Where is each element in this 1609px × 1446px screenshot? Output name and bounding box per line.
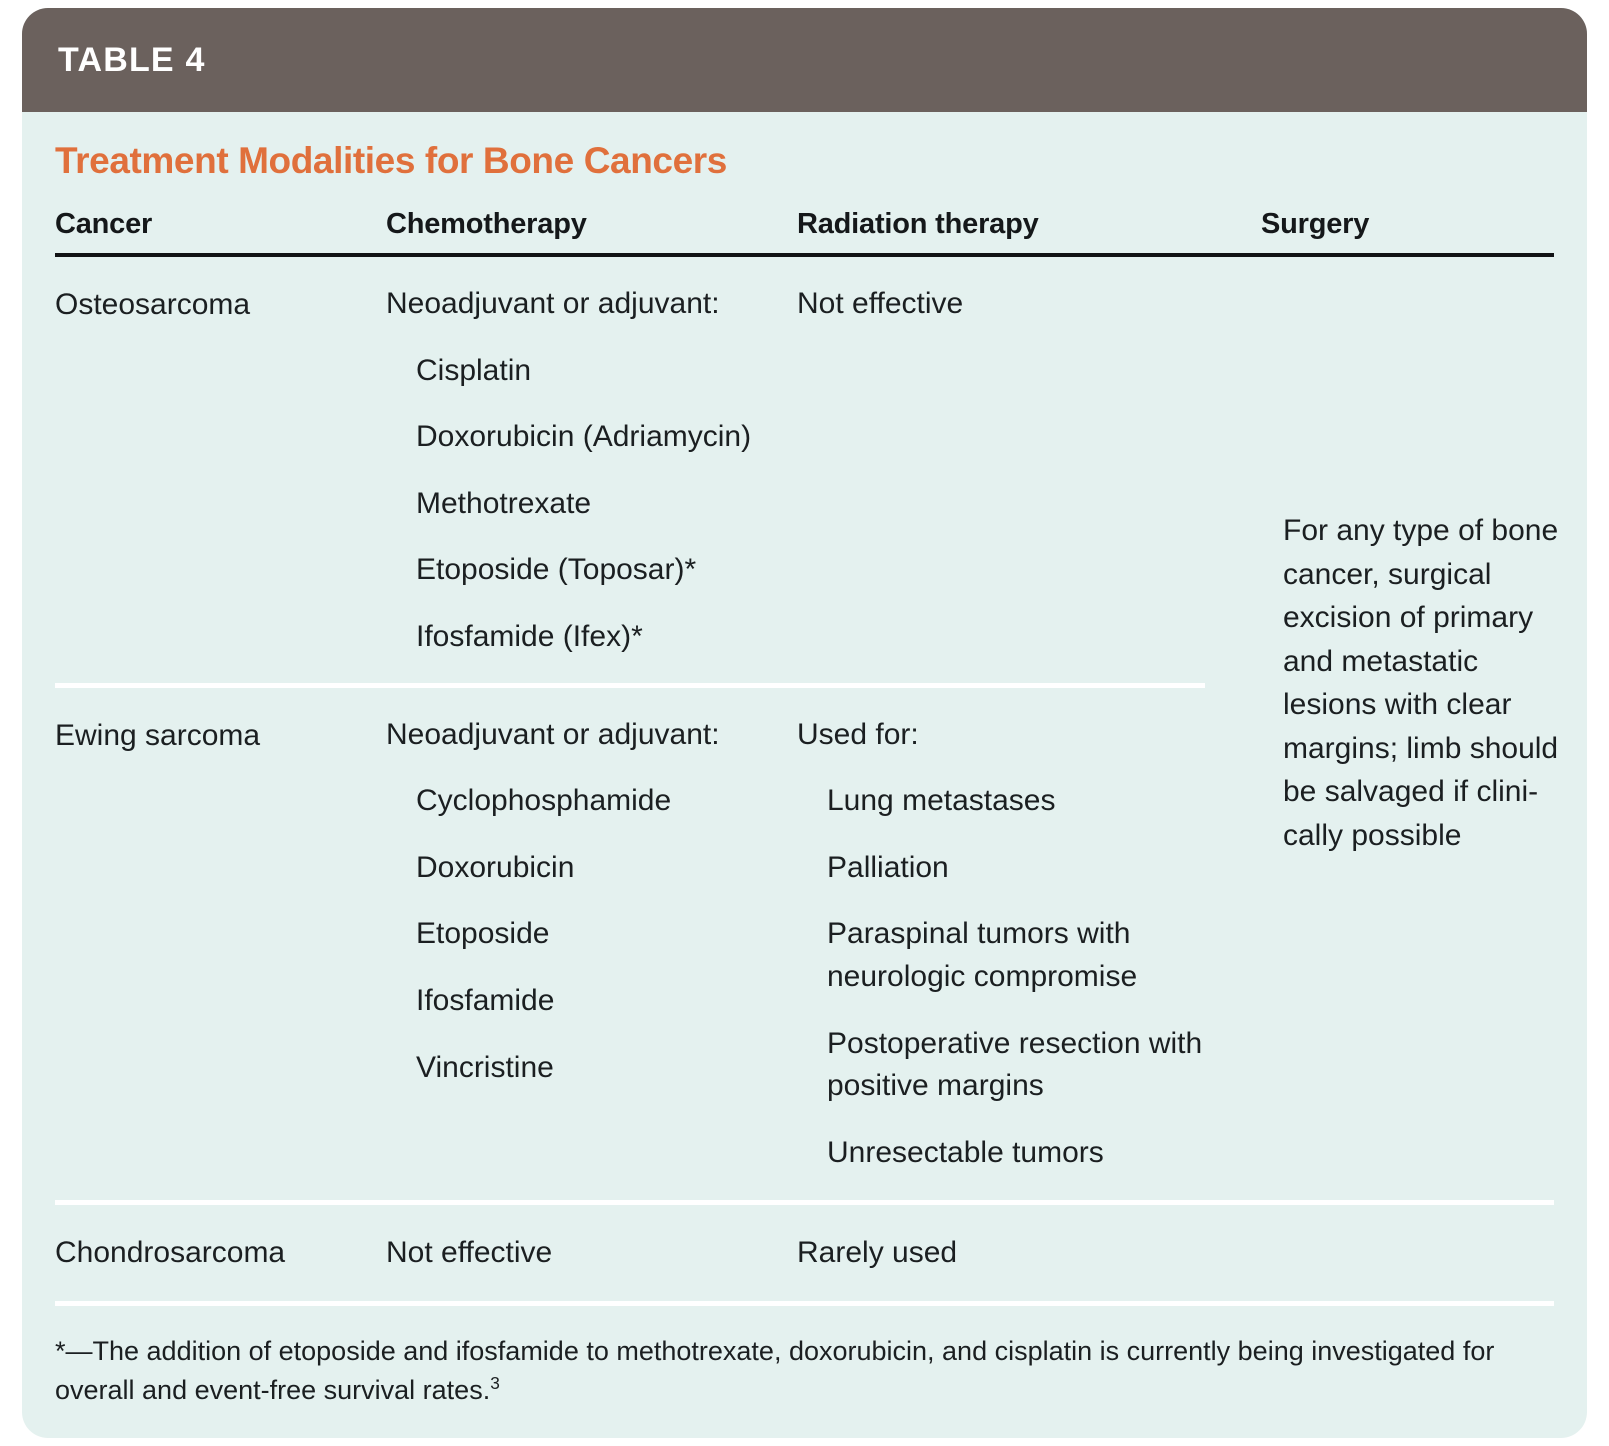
table-header-bar: TABLE 4 [22,8,1587,112]
asterisk-footnote: *—The addition of etoposide and ifosfami… [55,1332,1554,1409]
chemo-item-list: Cyclophosphamide Doxorubicin Etoposide I… [386,756,797,1089]
list-item: Cyclophosphamide [416,756,797,823]
list-item: Postoperative resection with positive ma… [827,999,1261,1108]
list-item: Ifosfamide (Ifex)* [416,592,797,659]
cell-chemotherapy: Neoadjuvant or adjuvant: Cisplatin Doxor… [386,257,797,659]
cell-radiation-therapy: Not effective [797,257,1261,659]
list-item: Methotrexate [416,459,797,526]
list-item: Cisplatin [416,326,797,393]
table-title: Treatment Modalities for Bone Cancers [55,112,1554,186]
cell-radiation-therapy: Rarely used [797,1205,1261,1275]
column-header-radiation-therapy: Radiation therapy [797,186,1261,253]
chemo-item-list: Cisplatin Doxorubicin (Adriamycin) Metho… [386,326,797,659]
cell-surgery-empty [1261,1205,1586,1275]
table-row: Osteosarcoma Neoadjuvant or adjuvant: Ci… [55,257,1554,659]
list-item: Paraspinal tumors with neurologic compro… [827,889,1261,998]
table-row: Chondrosarcoma Not effective Rarely used [55,1205,1554,1275]
list-item: Lung metastases [827,756,1261,823]
list-item: Doxorubicin [416,823,797,890]
cell-chemotherapy: Not effective [386,1205,797,1275]
list-item: Ifosfamide [416,956,797,1023]
cell-surgery: For any type of bone cancer, surgical ex… [1261,257,1586,659]
list-item: Unresectable tumors [827,1108,1261,1175]
radiation-item-list: Lung metastases Palliation Paraspinal tu… [797,756,1261,1174]
radiation-intro: Not effective [797,283,1261,326]
table-body: Treatment Modalities for Bone Cancers Ca… [22,112,1587,1438]
chemo-intro: Neoadjuvant or adjuvant: [386,714,797,757]
column-header-chemotherapy: Chemotherapy [386,186,797,253]
list-item: Palliation [827,823,1261,890]
asterisk-footnote-text: *—The addition of etoposide and ifosfami… [55,1336,1494,1404]
cell-cancer: Chondrosarcoma [55,1205,386,1275]
cell-radiation-therapy: Used for: Lung metastases Palliation Par… [797,688,1261,1175]
footnote-reference-superscript: 3 [490,1373,500,1393]
radiation-intro: Used for: [797,714,1261,757]
list-item: Vincristine [416,1023,797,1090]
cell-cancer: Ewing sarcoma [55,688,386,1175]
cell-surgery-continued [1261,688,1586,1175]
list-item: Etoposide [416,889,797,956]
table-row: Ewing sarcoma Neoadjuvant or adjuvant: C… [55,688,1554,1175]
column-header-row: Cancer Chemotherapy Radiation therapy Su… [55,186,1554,253]
table-card: TABLE 4 Treatment Modalities for Bone Ca… [22,8,1587,1438]
list-item: Doxorubicin (Adriamycin) [416,392,797,459]
chemo-intro: Neoadjuvant or adjuvant: [386,283,797,326]
list-item: Etoposide (Toposar)* [416,525,797,592]
cell-cancer: Osteosarcoma [55,257,386,659]
cell-chemotherapy: Neoadjuvant or adjuvant: Cyclophosphamid… [386,688,797,1175]
footnotes-section: *—The addition of etoposide and ifosfami… [55,1306,1554,1438]
column-header-cancer: Cancer [55,186,386,253]
source-note: Information from references 3, 7, and 19… [55,1409,1554,1438]
table-number-label: TABLE 4 [58,41,206,80]
column-header-surgery: Surgery [1261,186,1586,253]
